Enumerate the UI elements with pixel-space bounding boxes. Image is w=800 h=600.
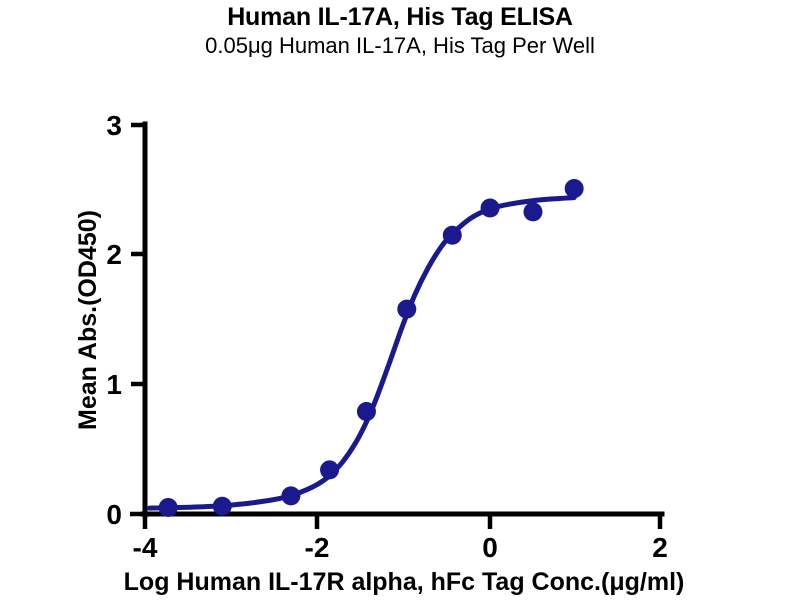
data-point-marker (565, 179, 584, 198)
data-point-marker (213, 497, 232, 516)
y-tick-label-3: 3 (106, 110, 122, 141)
data-point-marker (397, 300, 416, 319)
y-tick-label-0: 0 (106, 499, 122, 530)
y-tick-label-1: 1 (106, 369, 122, 400)
data-point-marker (357, 402, 376, 421)
y-axis-title: Mean Abs.(OD450) (74, 210, 102, 430)
x-tick-label-minus4: -4 (133, 532, 158, 563)
x-tick-label-minus2: -2 (305, 532, 330, 563)
fit-curve (149, 198, 574, 509)
plot-area: 0 1 2 3 -4 -2 0 2 Mean Abs.(OD450) Log H… (0, 0, 800, 600)
y-tick-label-2: 2 (106, 239, 122, 270)
data-point-marker (443, 226, 462, 245)
y-axis-ticks: 0 1 2 3 (106, 110, 145, 530)
data-point-marker (523, 202, 542, 221)
x-axis-title: Log Human IL-17R alpha, hFc Tag Conc.(μg… (124, 568, 685, 596)
chart-figure: Human IL-17A, His Tag ELISA 0.05μg Human… (0, 0, 800, 600)
data-point-marker (320, 460, 339, 479)
data-point-marker (481, 198, 500, 217)
data-point-marker (159, 498, 178, 517)
data-points-group (159, 179, 584, 517)
x-tick-label-2: 2 (652, 532, 668, 563)
x-tick-label-0: 0 (482, 532, 498, 563)
x-axis-ticks: -4 -2 0 2 (133, 514, 668, 563)
data-point-marker (281, 486, 300, 505)
